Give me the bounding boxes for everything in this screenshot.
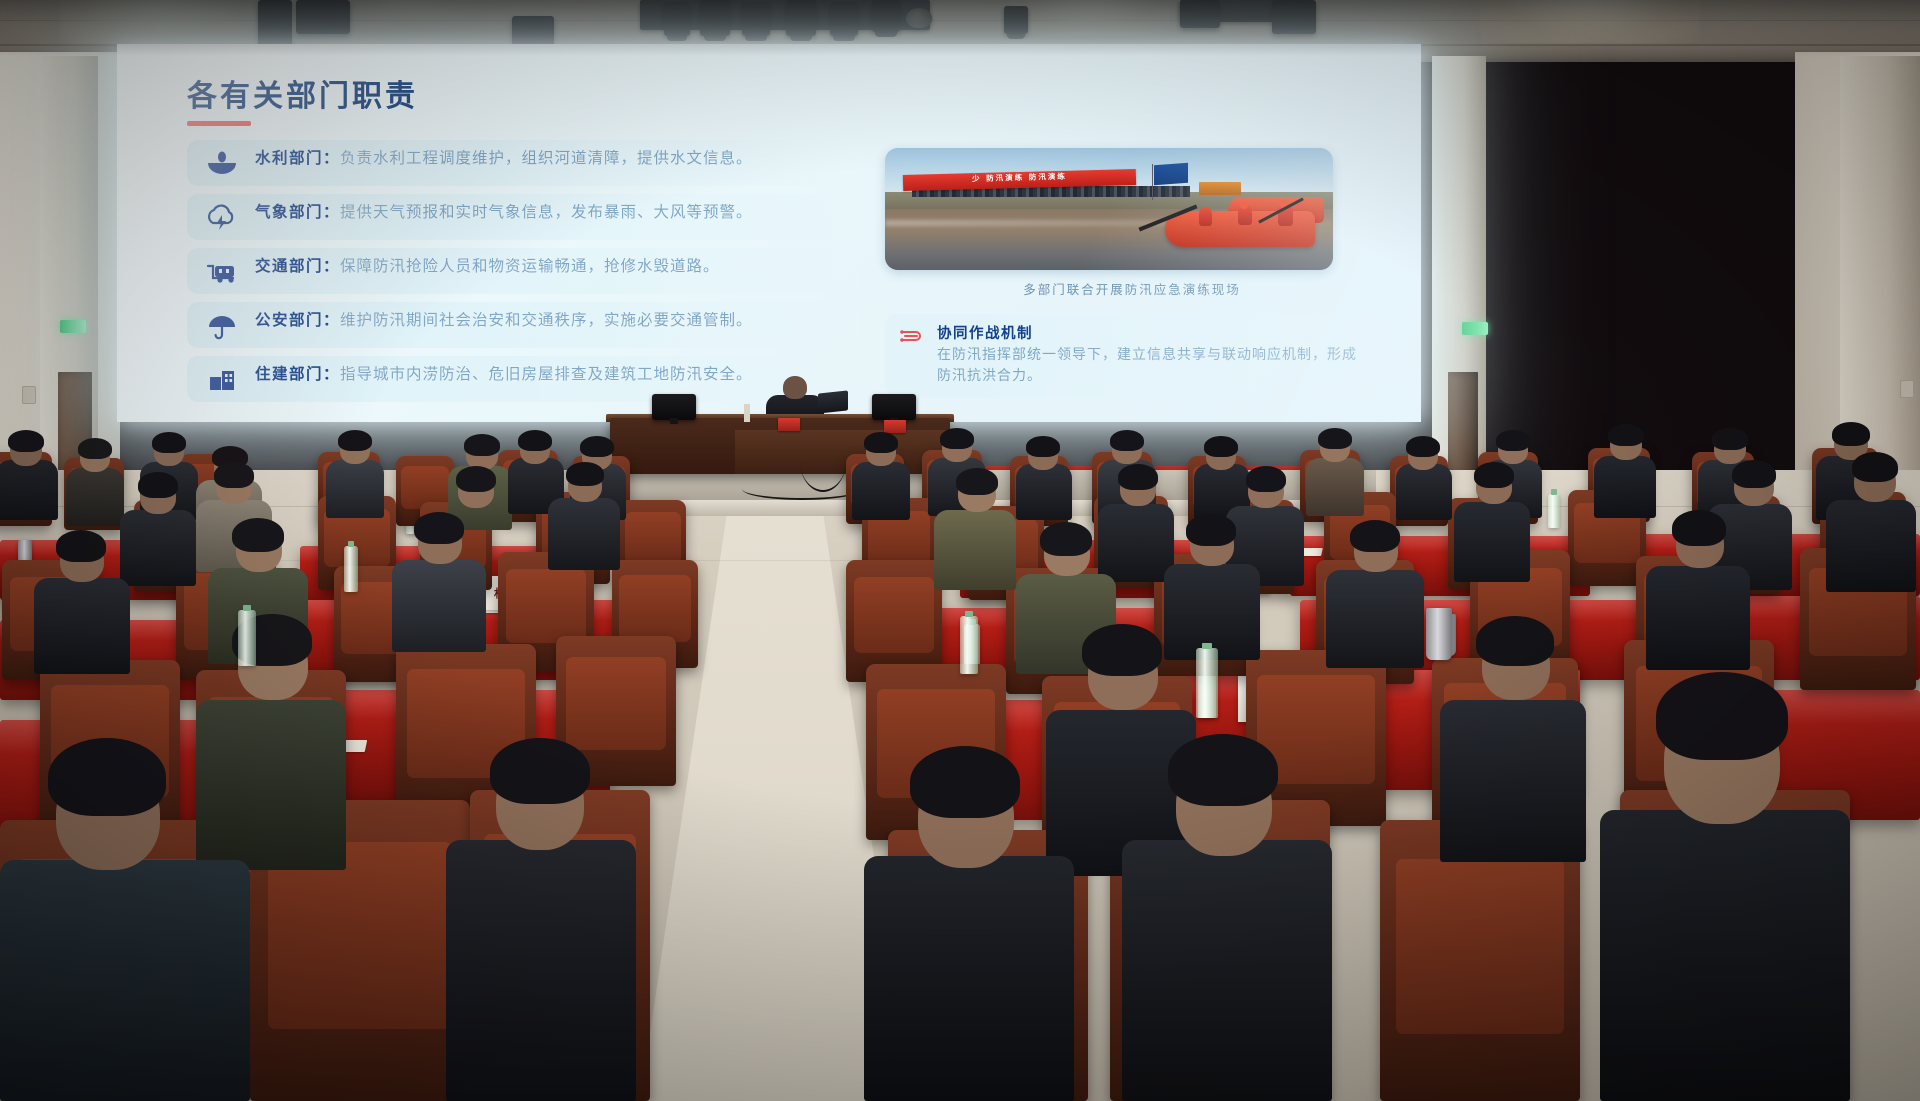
truck-icon xyxy=(205,257,239,287)
department-name: 住建部门： xyxy=(255,365,340,383)
photo-flag xyxy=(1154,163,1188,185)
ceiling-speaker xyxy=(296,0,350,34)
storm-cloud-icon xyxy=(205,203,239,233)
photo-helmet xyxy=(1240,202,1248,209)
photo-rescuer xyxy=(1199,207,1212,226)
photo-canvas: 少 防汛演练 防汛演练 xyxy=(885,148,1333,270)
name-plate xyxy=(884,420,906,433)
stage-spotlight xyxy=(700,0,730,36)
department-text: 交通部门：保障防汛抢险人员和物资运输畅通，抢修水毁道路。 xyxy=(255,255,720,277)
slide-right-column: 少 防汛演练 防汛演练 xyxy=(885,140,1379,402)
chandelier xyxy=(350,0,470,20)
department-row: 住建部门：指导城市内涝防治、危旧房屋排查及建筑工地防汛安全。 xyxy=(187,356,859,402)
department-desc: 提供天气预报和实时气象信息，发布暴雨、大风等预警。 xyxy=(340,203,753,221)
water-bottle xyxy=(960,616,978,674)
chandelier xyxy=(60,0,260,44)
dome-camera xyxy=(906,8,932,28)
photo-caption: 多部门联合开展防汛应急演练现场 xyxy=(885,279,1379,298)
monitor-stand xyxy=(670,418,678,424)
floor-cable xyxy=(742,478,862,500)
wall-switch-plate[interactable] xyxy=(1900,380,1914,398)
stage-spotlight xyxy=(742,2,770,36)
department-name: 交通部门： xyxy=(255,257,340,275)
projection-screen: 各有关部门职责 水利部门：负责水利工程调度维护，组织河道清障，提供水文信息。 xyxy=(117,44,1421,422)
water-bottle xyxy=(1196,648,1218,718)
name-plate xyxy=(778,418,800,431)
photo-flagpole xyxy=(1152,164,1154,201)
slide-title: 各有关部门职责 xyxy=(187,82,1379,112)
stage-spotlight xyxy=(872,0,900,32)
water-bottle xyxy=(238,610,256,666)
department-desc: 负责水利工程调度维护，组织河道清障，提供水文信息。 xyxy=(340,149,753,167)
water-bottle xyxy=(1548,494,1560,528)
ceiling-speaker xyxy=(512,16,554,46)
desk-monitor[interactable] xyxy=(652,394,696,420)
link-loop-icon xyxy=(897,325,925,347)
department-text: 水利部门：负责水利工程调度维护，组织河道清障，提供水文信息。 xyxy=(255,147,753,169)
department-row: 气象部门：提供天气预报和实时气象信息，发布暴雨、大风等预警。 xyxy=(187,194,859,240)
department-text: 住建部门：指导城市内涝防治、危旧房屋排查及建筑工地防汛安全。 xyxy=(255,363,753,385)
water-bottle xyxy=(344,546,358,592)
presenter-head xyxy=(783,376,807,399)
department-list: 水利部门：负责水利工程调度维护，组织河道清障，提供水文信息。 气象部门：提供天气… xyxy=(187,140,859,402)
stage-spotlight xyxy=(786,0,816,36)
ceiling-speaker xyxy=(1272,0,1316,34)
exit-sign-icon xyxy=(1462,322,1488,335)
department-row: 水利部门：负责水利工程调度维护，组织河道清障，提供水文信息。 xyxy=(187,140,859,186)
conference-room-photo: 各有关部门职责 水利部门：负责水利工程调度维护，组织河道清障，提供水文信息。 xyxy=(0,0,1920,1101)
department-desc: 保障防汛抢险人员和物资运输畅通，抢修水毁道路。 xyxy=(340,257,720,275)
presenter-laptop[interactable] xyxy=(818,390,848,413)
stage-spotlight xyxy=(1004,6,1028,34)
presentation-slide: 各有关部门职责 水利部门：负责水利工程调度维护，组织河道清障，提供水文信息。 xyxy=(117,44,1421,422)
drill-photo: 少 防汛演练 防汛演练 xyxy=(885,148,1333,270)
chandelier xyxy=(1010,0,1170,36)
department-text: 气象部门：提供天气预报和实时气象信息，发布暴雨、大风等预警。 xyxy=(255,201,753,223)
side-door[interactable] xyxy=(1448,372,1478,476)
chair xyxy=(1380,820,1580,1101)
wall-switch-plate[interactable] xyxy=(22,386,36,404)
department-text: 公安部门：维护防汛期间社会治安和交通秩序，实施必要交通管制。 xyxy=(255,309,753,331)
department-desc: 维护防汛期间社会治安和交通秩序，实施必要交通管制。 xyxy=(340,311,753,329)
stage-spotlight xyxy=(664,2,690,36)
department-name: 气象部门： xyxy=(255,203,340,221)
microphone-stand xyxy=(744,404,750,422)
chandelier xyxy=(1480,0,1700,44)
desk-monitor[interactable] xyxy=(872,394,916,420)
department-name: 水利部门： xyxy=(255,149,340,167)
stage-spotlight xyxy=(830,2,858,36)
department-row: 公安部门：维护防汛期间社会治安和交通秩序，实施必要交通管制。 xyxy=(187,302,859,348)
photo-truck xyxy=(1199,182,1241,195)
coop-body: 在防汛指挥部统一领导下，建立信息共享与联动响应机制，形成防汛抗洪合力。 xyxy=(937,345,1365,387)
water-drop-icon xyxy=(205,149,239,179)
ceiling-speaker xyxy=(1180,0,1220,28)
department-desc: 指导城市内涝防治、危旧房屋排查及建筑工地防汛安全。 xyxy=(340,365,753,383)
exit-sign-icon xyxy=(60,320,86,333)
department-name: 公安部门： xyxy=(255,311,340,329)
department-row: 交通部门：保障防汛抢险人员和物资运输畅通，抢修水毁道路。 xyxy=(187,248,859,294)
wall-pillar xyxy=(1840,56,1920,476)
umbrella-icon xyxy=(205,311,239,341)
coop-heading: 协同作战机制 xyxy=(937,322,1365,343)
thermos-cup xyxy=(1426,608,1452,660)
building-icon xyxy=(205,365,239,395)
coop-mechanism-box: 协同作战机制 在防汛指挥部统一领导下，建立信息共享与联动响应机制，形成防汛抗洪合… xyxy=(885,314,1379,397)
title-underline xyxy=(187,121,251,126)
